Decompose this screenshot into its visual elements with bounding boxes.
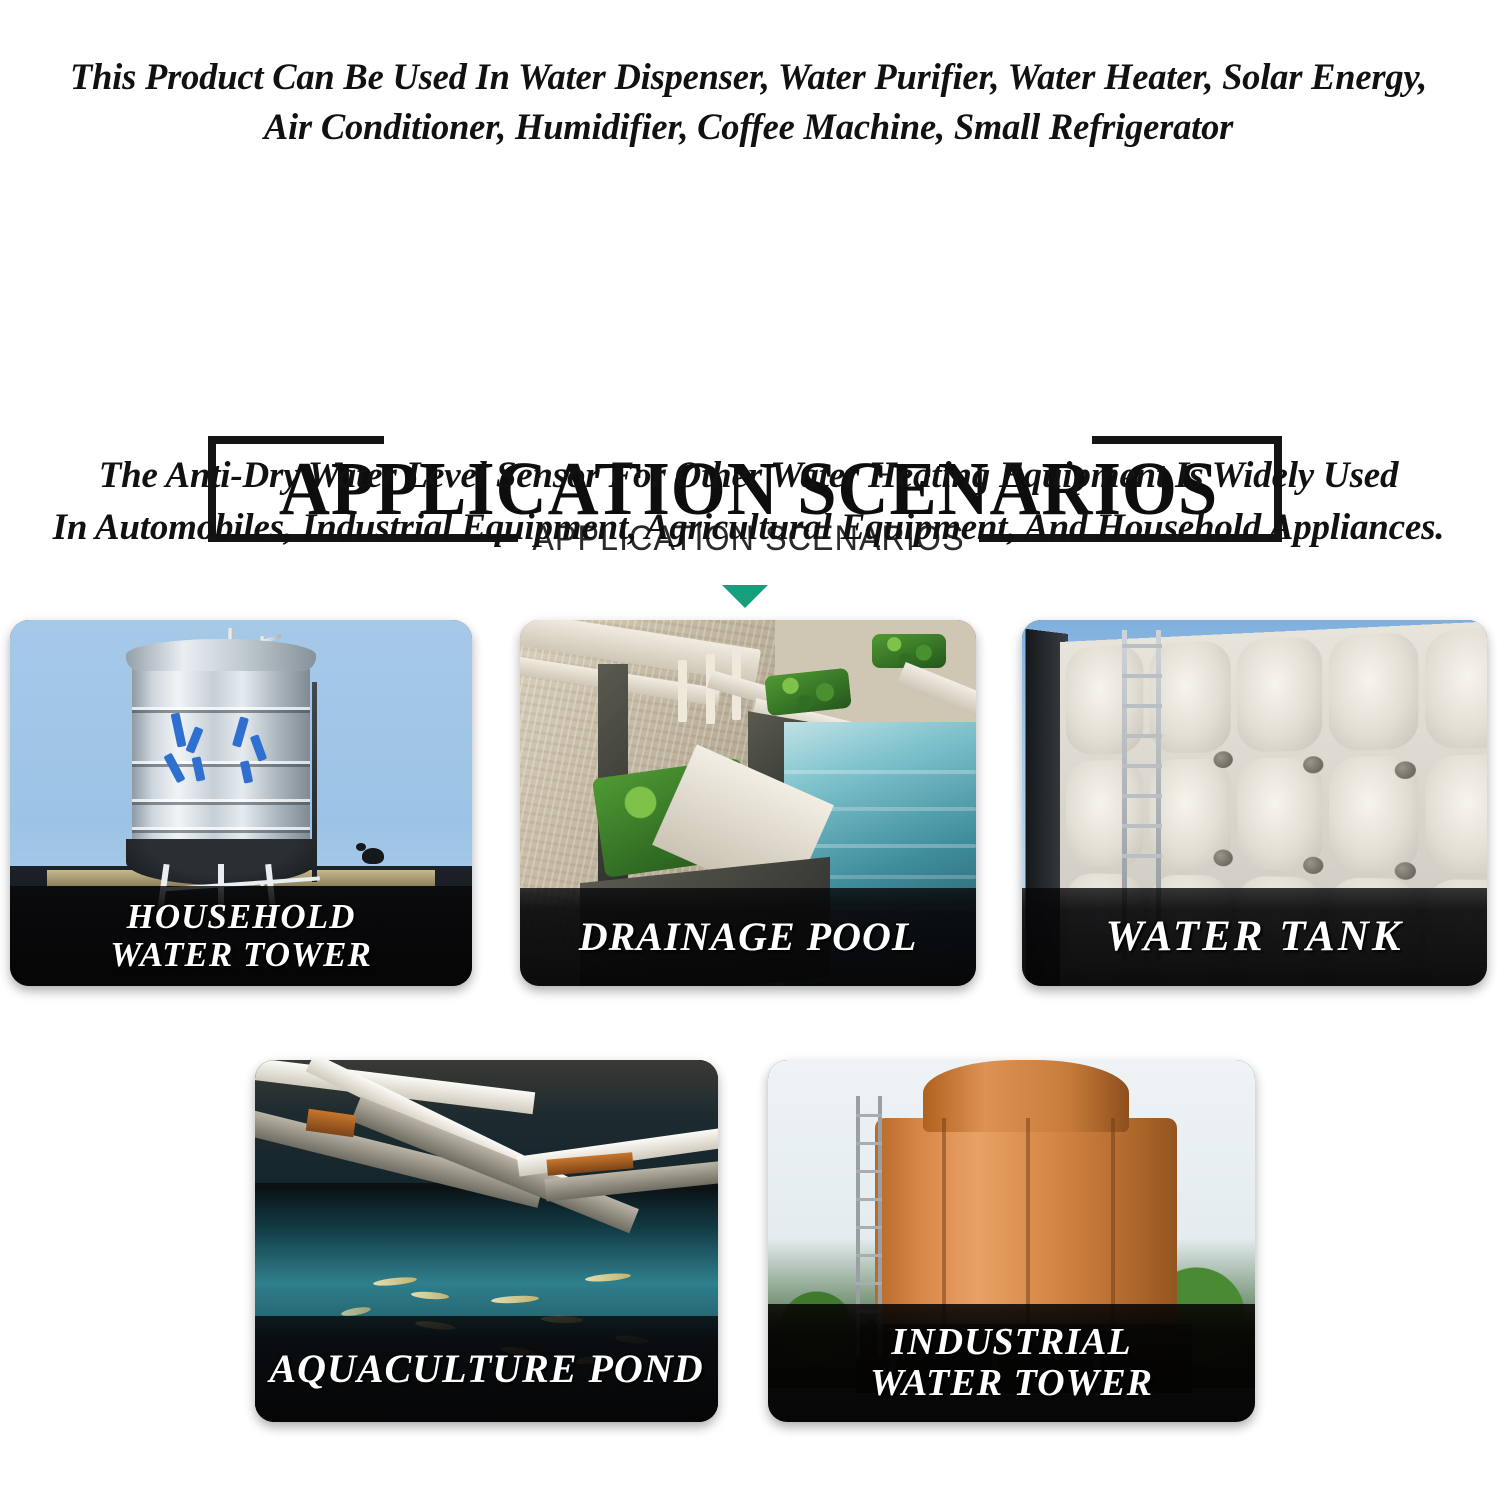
cooling-tower-shell bbox=[875, 1118, 1177, 1335]
caption-line-2: WATER TOWER bbox=[870, 1363, 1153, 1404]
caption-line-1: HOUSEHOLD bbox=[127, 898, 356, 936]
scenario-card-aquaculture-pond[interactable]: AQUACULTURE POND bbox=[255, 1060, 718, 1422]
section-banner: APPLICATION SCENARIOS APPLICATION SCENAR… bbox=[0, 210, 1497, 370]
intro-paragraph: This Product Can Be Used In Water Dispen… bbox=[0, 52, 1497, 152]
lede-paragraph: The Anti-Dry Water Level Sensor For Othe… bbox=[0, 450, 1497, 554]
caption-line-2: WATER TOWER bbox=[110, 936, 372, 974]
card-caption: HOUSEHOLD WATER TOWER bbox=[10, 886, 472, 986]
intro-line-1: This Product Can Be Used In Water Dispen… bbox=[70, 56, 1427, 97]
card-caption: DRAINAGE POOL bbox=[520, 888, 976, 986]
frame-top-right-segment bbox=[1092, 436, 1282, 444]
lede-line-1: The Anti-Dry Water Level Sensor For Othe… bbox=[99, 455, 1399, 496]
card-caption: AQUACULTURE POND bbox=[255, 1316, 718, 1422]
scenario-card-water-tank[interactable]: WATER TANK bbox=[1022, 620, 1487, 986]
scenario-card-household-water-tower[interactable]: HOUSEHOLD WATER TOWER bbox=[10, 620, 472, 986]
scenario-card-industrial-water-tower[interactable]: INDUSTRIAL WATER TOWER bbox=[768, 1060, 1255, 1422]
card-caption: INDUSTRIAL WATER TOWER bbox=[768, 1304, 1255, 1422]
intro-line-2: Air Conditioner, Humidifier, Coffee Mach… bbox=[14, 102, 1483, 152]
lede-line-2: In Automobiles, Industrial Equipment, Ag… bbox=[10, 502, 1487, 554]
stainless-water-tank bbox=[132, 665, 310, 855]
caption-line-1: DRAINAGE POOL bbox=[579, 915, 918, 958]
water-spout bbox=[678, 660, 687, 722]
application-scenarios-page: This Product Can Be Used In Water Dispen… bbox=[0, 0, 1497, 1497]
antenna-mast bbox=[312, 682, 317, 882]
card-caption: WATER TANK bbox=[1022, 888, 1487, 986]
scenario-card-drainage-pool[interactable]: DRAINAGE POOL bbox=[520, 620, 976, 986]
caption-line-1: WATER TANK bbox=[1105, 914, 1403, 960]
caption-line-1: AQUACULTURE POND bbox=[269, 1347, 703, 1390]
caption-line-1: INDUSTRIAL bbox=[891, 1322, 1131, 1363]
bird bbox=[362, 848, 384, 864]
frame-top-left-segment bbox=[208, 436, 384, 444]
chevron-down-icon bbox=[722, 585, 768, 608]
